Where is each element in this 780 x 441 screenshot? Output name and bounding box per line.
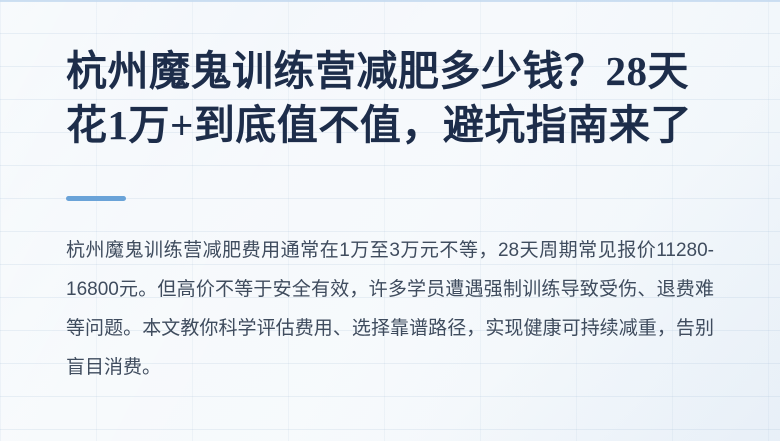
page-title: 杭州魔鬼训练营减肥多少钱？28天花1万+到底值不值，避坑指南来了 — [66, 44, 714, 152]
article-summary-card: 杭州魔鬼训练营减肥多少钱？28天花1万+到底值不值，避坑指南来了 杭州魔鬼训练营… — [0, 0, 780, 441]
article-summary-text: 杭州魔鬼训练营减肥费用通常在1万至3万元不等，28天周期常见报价11280-16… — [66, 231, 714, 387]
accent-divider — [66, 196, 126, 201]
card-content: 杭州魔鬼训练营减肥多少钱？28天花1万+到底值不值，避坑指南来了 杭州魔鬼训练营… — [0, 0, 780, 441]
